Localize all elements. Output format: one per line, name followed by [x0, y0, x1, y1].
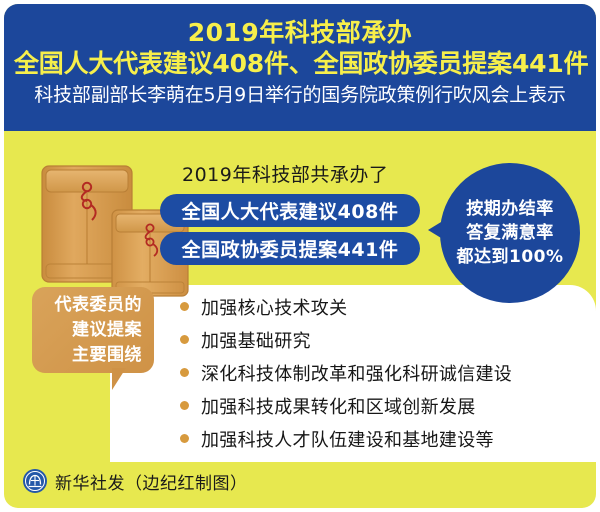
list-item: 加强基础研究 [180, 324, 512, 355]
header-banner: 2019年科技部承办 全国人大代表建议408件、全国政协委员提案441件 科技部… [4, 4, 596, 131]
infographic-root: 2019年科技部承办 全国人大代表建议408件、全国政协委员提案441件 科技部… [0, 0, 600, 512]
bullet-dot-icon [180, 368, 189, 377]
header-title-line-2: 全国人大代表建议408件、全国政协委员提案441件 [14, 48, 586, 80]
bullet-label: 加强科技成果转化和区域创新发展 [201, 393, 476, 419]
envelopes-illustration [38, 160, 198, 300]
bullet-dot-icon [180, 434, 189, 443]
stat-pill-cppcc-proposals: 全国政协委员提案441件 [160, 232, 420, 265]
intro-text: 2019年科技部共承办了 [182, 160, 388, 187]
speech-bubble-line-1: 代表委员的 [55, 293, 143, 318]
circle-callout-line-2: 答复满意率 [466, 221, 554, 245]
speech-bubble-line-2: 建议提案 [72, 318, 142, 343]
list-item: 加强核心技术攻关 [180, 291, 512, 322]
circle-callout-line-3: 都达到100% [456, 245, 563, 269]
bullet-list: 加强核心技术攻关 加强基础研究 深化科技体制改革和强化科研诚信建设 加强科技成果… [180, 291, 512, 456]
stat-pill-npc-suggestions: 全国人大代表建议408件 [160, 194, 420, 227]
circle-callout-line-1: 按期办结率 [466, 197, 554, 221]
circle-callout: 按期办结率 答复满意率 都达到100% [440, 163, 580, 303]
list-item: 加强科技成果转化和区域创新发展 [180, 390, 512, 421]
bullet-label: 加强核心技术攻关 [201, 294, 347, 320]
footer-credit: 新华社发（边纪红制图） [55, 469, 248, 494]
speech-bubble-callout: 代表委员的 建议提案 主要围绕 [32, 287, 154, 373]
bullet-dot-icon [180, 335, 189, 344]
bullet-dot-icon [180, 401, 189, 410]
bullet-label: 深化科技体制改革和强化科研诚信建设 [201, 360, 512, 386]
content-panel-notch [110, 380, 170, 462]
list-item: 深化科技体制改革和强化科研诚信建设 [180, 357, 512, 388]
bullet-label: 加强基础研究 [201, 327, 311, 353]
bullet-label: 加强科技人才队伍建设和基地建设等 [201, 426, 494, 452]
list-item: 加强科技人才队伍建设和基地建设等 [180, 423, 512, 454]
speech-bubble-tail [112, 368, 126, 390]
footer: 新华社发（边纪红制图） [22, 468, 248, 494]
speech-bubble-line-3: 主要围绕 [72, 343, 142, 368]
bullet-dot-icon [180, 302, 189, 311]
header-title-line-1: 2019年科技部承办 [14, 18, 586, 48]
xinhua-logo-icon [22, 468, 48, 494]
header-subtitle: 科技部副部长李萌在5月9日举行的国务院政策例行吹风会上表示 [14, 80, 586, 110]
